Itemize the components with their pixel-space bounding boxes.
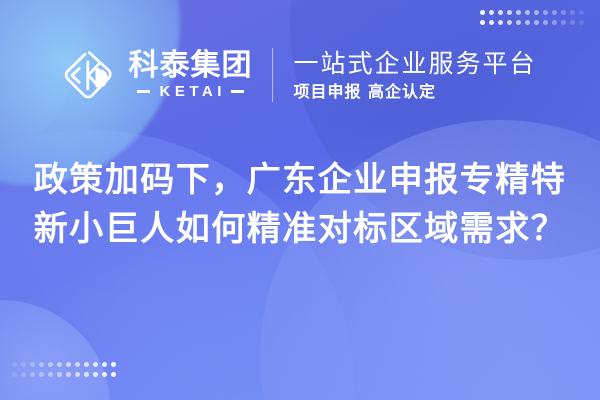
tagline-sub: 项目申报 高企认定 — [293, 83, 536, 101]
dot-icon — [525, 20, 530, 25]
dot-icon — [534, 20, 539, 25]
headline-line-1: 政策加码下，广东企业申报专精特 — [28, 156, 572, 205]
logo-rule-right-icon — [231, 90, 244, 93]
dot-icon — [93, 362, 98, 367]
dot-icon — [39, 362, 44, 367]
dot-icon — [21, 362, 26, 367]
dot-icon — [543, 20, 548, 25]
dot-icon — [480, 20, 485, 25]
dot-icon — [579, 10, 584, 15]
brand-name-en: KETAI — [155, 84, 226, 99]
dot-icon — [561, 10, 566, 15]
dot-grid-icon-bottom-left — [12, 362, 120, 382]
dot-icon — [498, 10, 503, 15]
dot-icon — [516, 10, 521, 15]
banner-header: 科泰集团 KETAI 一站式企业服务平台 项目申报 高企认定 — [0, 40, 600, 110]
dot-icon — [30, 362, 35, 367]
dot-icon — [111, 362, 116, 367]
dot-icon — [543, 10, 548, 15]
dot-icon — [507, 10, 512, 15]
dot-icon — [48, 372, 53, 377]
dot-icon — [39, 372, 44, 377]
ketai-diamond-kd-monogram-logo-icon — [63, 49, 115, 101]
dot-icon — [111, 372, 116, 377]
dot-icon — [66, 372, 71, 377]
dot-icon — [534, 10, 539, 15]
brand-wordmark: 科泰集团 KETAI — [128, 51, 252, 100]
vertical-divider-icon — [272, 48, 273, 102]
dot-icon — [57, 362, 62, 367]
brand-lockup: 科泰集团 KETAI — [63, 49, 252, 101]
dot-icon — [489, 20, 494, 25]
dot-icon — [93, 372, 98, 377]
dot-grid-icon-top-right — [480, 10, 588, 30]
dot-icon — [75, 372, 80, 377]
brand-name-cn: 科泰集团 — [128, 51, 252, 82]
tagline-block: 一站式企业服务平台 项目申报 高企认定 — [293, 50, 536, 101]
dot-icon — [480, 10, 485, 15]
dot-icon — [21, 372, 26, 377]
dot-icon — [552, 10, 557, 15]
dot-icon — [75, 362, 80, 367]
dot-icon — [48, 362, 53, 367]
logo-rule-left-icon — [137, 90, 150, 93]
dot-icon — [516, 20, 521, 25]
dot-icon — [489, 10, 494, 15]
dot-icon — [570, 20, 575, 25]
dot-icon — [84, 362, 89, 367]
dot-icon — [66, 362, 71, 367]
dot-icon — [579, 20, 584, 25]
dot-icon — [12, 362, 17, 367]
dot-icon — [525, 10, 530, 15]
dot-icon — [561, 20, 566, 25]
headline-line-2: 新小巨人如何精准对标区域需求？ — [28, 205, 572, 254]
dot-icon — [498, 20, 503, 25]
tagline-main: 一站式企业服务平台 — [293, 50, 536, 78]
dot-icon — [102, 362, 107, 367]
promo-banner: 科泰集团 KETAI 一站式企业服务平台 项目申报 高企认定 政策加码下，广东企… — [0, 0, 600, 400]
dot-icon — [570, 10, 575, 15]
dot-icon — [552, 20, 557, 25]
brand-name-en-row: KETAI — [137, 84, 244, 99]
dot-icon — [84, 372, 89, 377]
dot-icon — [507, 20, 512, 25]
dot-icon — [57, 372, 62, 377]
headline-block: 政策加码下，广东企业申报专精特 新小巨人如何精准对标区域需求？ — [0, 156, 600, 254]
dot-icon — [30, 372, 35, 377]
background-blob-bottom-left-small — [0, 300, 110, 400]
dot-icon — [102, 372, 107, 377]
dot-icon — [12, 372, 17, 377]
